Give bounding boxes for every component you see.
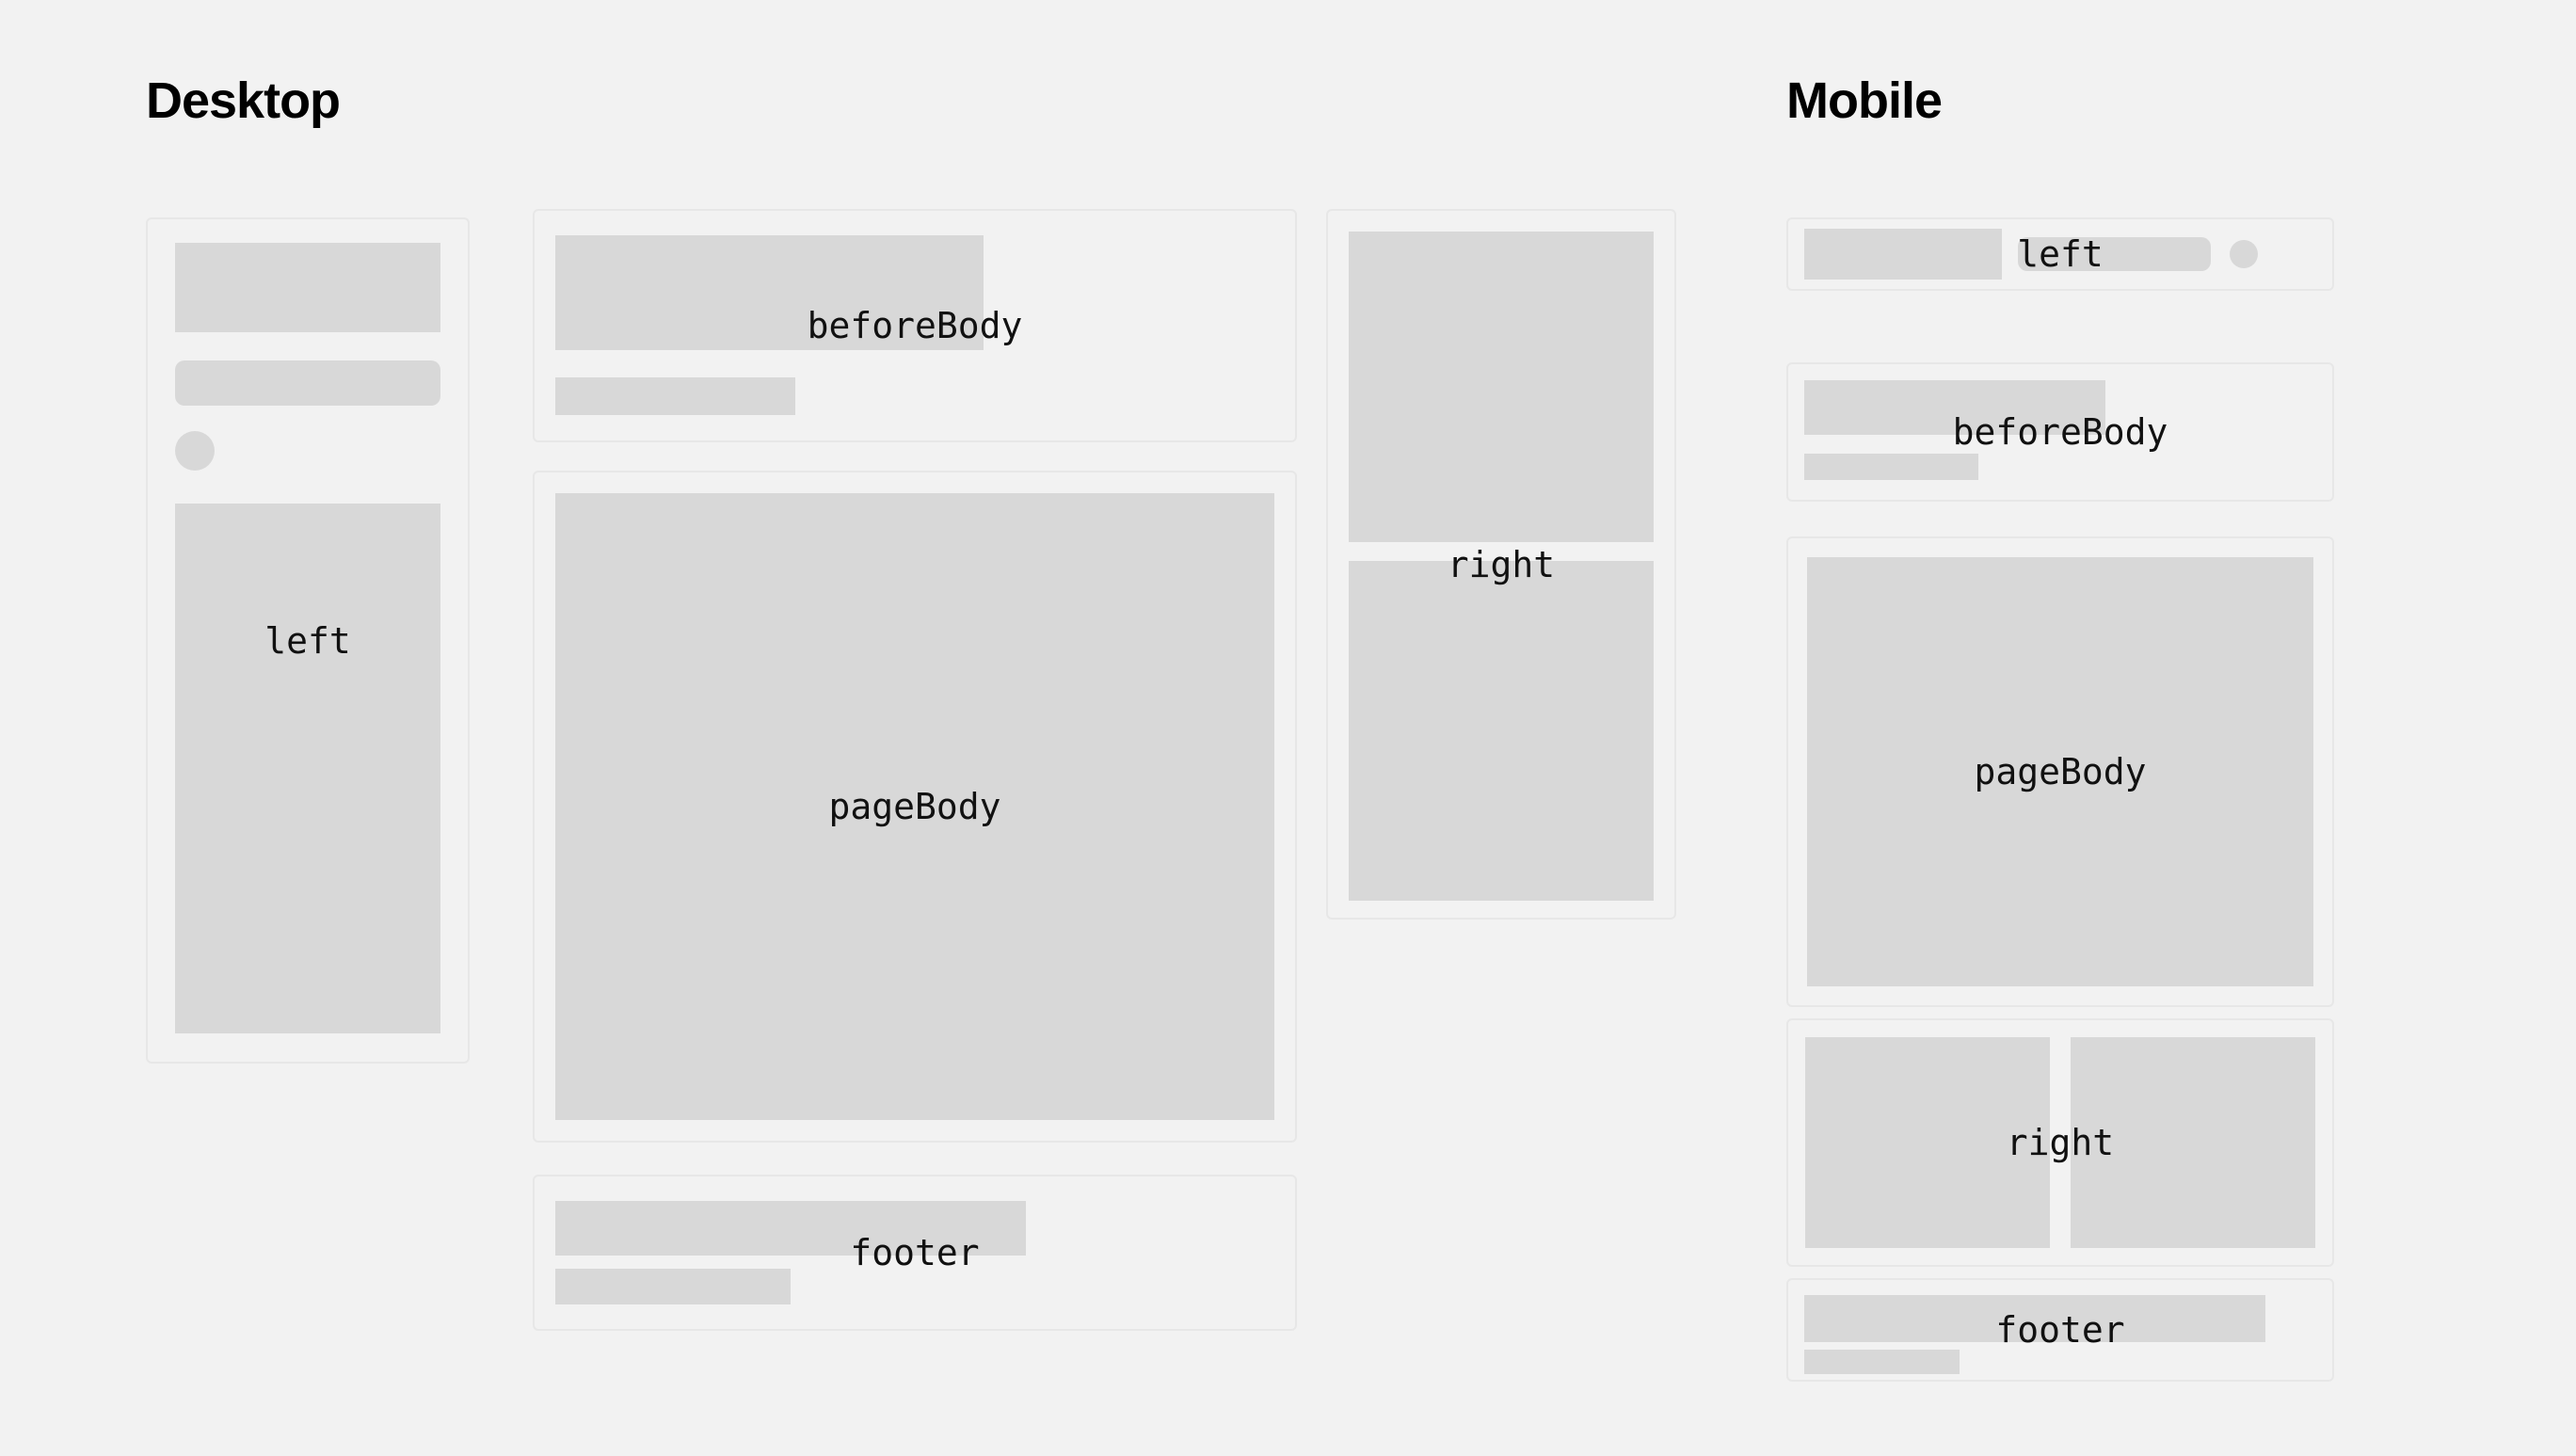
skeleton-bar	[175, 360, 440, 406]
skeleton-block-primary	[555, 1201, 1026, 1256]
skeleton-block-secondary	[555, 1269, 791, 1304]
skeleton-block-header	[175, 243, 440, 332]
skeleton-block-header	[1804, 229, 2002, 280]
skeleton-block-secondary	[1804, 1350, 1960, 1374]
skeleton-bar	[2018, 237, 2211, 271]
skeleton-block-body	[1807, 557, 2313, 986]
skeleton-block-primary	[1804, 380, 2105, 435]
skeleton-block-column-left	[1805, 1037, 2050, 1248]
skeleton-block-secondary	[555, 377, 795, 415]
skeleton-block-secondary	[1804, 454, 1978, 480]
mobile-pagebody-slot-panel[interactable]: pageBody	[1786, 536, 2334, 1007]
skeleton-block-primary	[1804, 1295, 2265, 1342]
mobile-beforebody-slot-panel[interactable]: beforeBody	[1786, 362, 2334, 502]
skeleton-block-upper	[1349, 232, 1654, 542]
desktop-left-slot-panel[interactable]: left	[146, 217, 470, 1064]
desktop-pagebody-slot-panel[interactable]: pageBody	[533, 471, 1297, 1143]
desktop-footer-slot-panel[interactable]: footer	[533, 1175, 1297, 1331]
skeleton-avatar-circle	[2230, 240, 2258, 268]
mobile-footer-slot-panel[interactable]: footer	[1786, 1278, 2334, 1382]
skeleton-block-lower	[1349, 561, 1654, 901]
desktop-beforebody-slot-panel[interactable]: beforeBody	[533, 209, 1297, 442]
desktop-section-title: Desktop	[146, 75, 340, 126]
skeleton-block-column-right	[2071, 1037, 2315, 1248]
desktop-right-slot-panel[interactable]: right	[1326, 209, 1676, 920]
mobile-left-slot-panel[interactable]: left	[1786, 217, 2334, 291]
skeleton-block-primary	[555, 235, 984, 350]
skeleton-avatar-circle	[175, 431, 215, 471]
mobile-section-title: Mobile	[1786, 75, 1942, 126]
mobile-right-slot-panel[interactable]: right	[1786, 1018, 2334, 1267]
skeleton-block-body	[555, 493, 1274, 1120]
skeleton-block-tall	[175, 504, 440, 1033]
